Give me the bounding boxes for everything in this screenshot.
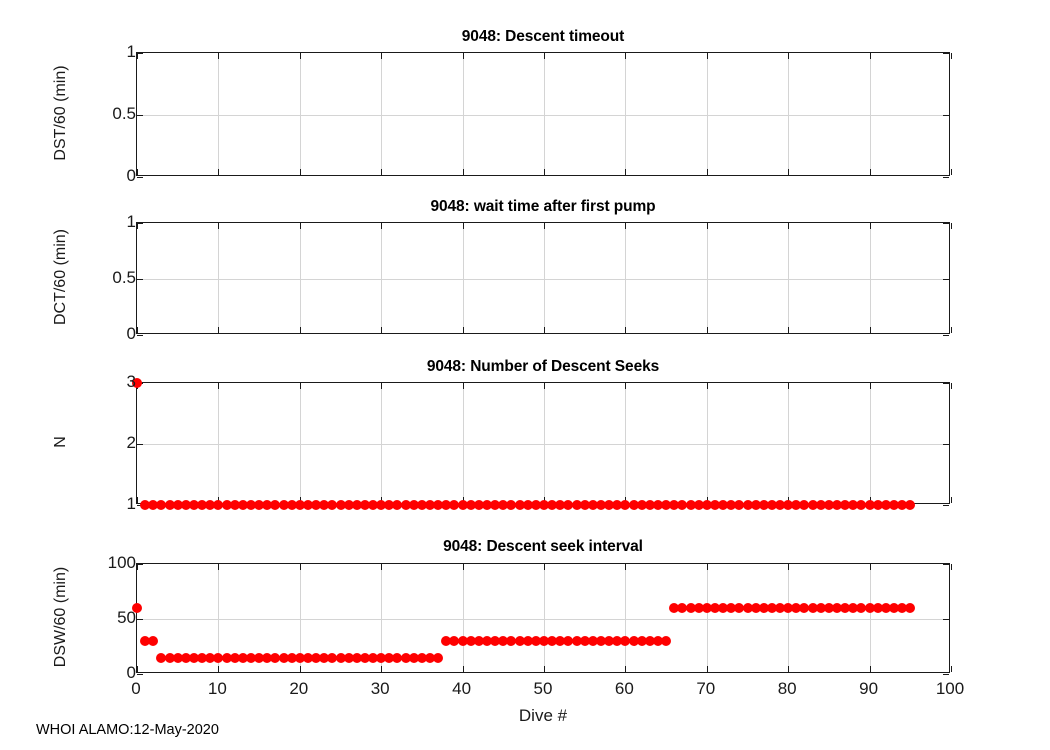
x-tick-mark (381, 383, 382, 389)
x-tick-mark (625, 327, 626, 333)
y-tick-mark (943, 619, 949, 620)
x-gridline (707, 53, 708, 175)
x-tick-mark (463, 564, 464, 570)
y-tick-mark (943, 383, 949, 384)
x-tick-mark (951, 169, 952, 175)
x-tick-mark (218, 564, 219, 570)
x-tick-label: 10 (208, 679, 227, 699)
x-tick-mark (381, 53, 382, 59)
x-gridline (300, 53, 301, 175)
x-gridline (870, 53, 871, 175)
x-tick-label: 40 (452, 679, 471, 699)
y-tick-mark (943, 335, 949, 336)
x-tick-mark (951, 497, 952, 503)
x-gridline (218, 223, 219, 333)
x-gridline (300, 223, 301, 333)
x-tick-mark (463, 169, 464, 175)
plot-area-2 (136, 222, 950, 334)
x-tick-mark (300, 223, 301, 229)
x-tick-mark (870, 53, 871, 59)
x-gridline (788, 53, 789, 175)
x-tick-mark (463, 666, 464, 672)
y-tick-label: 100 (0, 553, 143, 573)
x-tick-mark (951, 223, 952, 229)
x-gridline (870, 383, 871, 503)
x-tick-mark (788, 327, 789, 333)
y-tick-label: 0 (0, 663, 143, 683)
x-tick-mark (463, 327, 464, 333)
y-tick-mark (943, 115, 949, 116)
x-tick-mark (788, 666, 789, 672)
x-tick-mark (544, 327, 545, 333)
x-gridline (788, 223, 789, 333)
x-tick-label: 20 (289, 679, 308, 699)
x-tick-mark (218, 169, 219, 175)
x-tick-mark (300, 564, 301, 570)
x-gridline (625, 223, 626, 333)
x-tick-label: 70 (696, 679, 715, 699)
panel-title-1: 9048: Descent timeout (136, 28, 950, 46)
x-tick-mark (707, 169, 708, 175)
x-tick-mark (625, 223, 626, 229)
y-tick-label: 0 (0, 324, 143, 344)
x-tick-mark (870, 327, 871, 333)
x-gridline (218, 383, 219, 503)
x-tick-label: 80 (778, 679, 797, 699)
x-tick-mark (951, 53, 952, 59)
x-gridline (381, 383, 382, 503)
x-tick-mark (218, 223, 219, 229)
x-tick-mark (951, 327, 952, 333)
x-gridline (218, 53, 219, 175)
y-tick-label: 50 (0, 608, 143, 628)
x-tick-mark (300, 169, 301, 175)
y-tick-mark (943, 223, 949, 224)
y-tick-label: 1 (0, 494, 143, 514)
x-gridline (544, 223, 545, 333)
chart-panel-4 (136, 563, 950, 673)
x-gridline (463, 223, 464, 333)
x-tick-mark (951, 564, 952, 570)
y-tick-label: 3 (0, 372, 143, 392)
x-tick-label: 100 (936, 679, 964, 699)
x-gridline (870, 564, 871, 672)
x-tick-mark (300, 383, 301, 389)
chart-panel-3 (136, 382, 950, 504)
x-tick-mark (951, 383, 952, 389)
y-tick-mark (943, 674, 949, 675)
x-gridline (870, 223, 871, 333)
y-axis-label-4: DSW/60 (min) (52, 517, 70, 717)
x-tick-mark (381, 169, 382, 175)
x-gridline (381, 53, 382, 175)
x-tick-mark (381, 564, 382, 570)
x-tick-mark (951, 666, 952, 672)
x-tick-mark (218, 383, 219, 389)
y-tick-label: 1 (0, 212, 143, 232)
x-tick-mark (707, 327, 708, 333)
panel-title-2: 9048: wait time after first pump (136, 198, 950, 216)
panel-title-3: 9048: Number of Descent Seeks (136, 358, 950, 376)
chart-panel-1 (136, 52, 950, 176)
x-gridline (707, 383, 708, 503)
x-tick-label: 50 (534, 679, 553, 699)
matlab-figure: WHOI ALAMO:12-May-2020 9048: Descent tim… (0, 0, 1050, 750)
y-gridline (137, 619, 949, 620)
x-tick-mark (463, 383, 464, 389)
data-point (433, 653, 443, 663)
x-tick-mark (625, 53, 626, 59)
x-gridline (544, 383, 545, 503)
y-tick-label: 1 (0, 42, 143, 62)
x-tick-mark (544, 53, 545, 59)
y-tick-mark (943, 53, 949, 54)
x-tick-mark (788, 169, 789, 175)
x-tick-mark (218, 666, 219, 672)
x-tick-mark (625, 564, 626, 570)
x-tick-mark (544, 564, 545, 570)
x-tick-mark (788, 383, 789, 389)
x-tick-mark (707, 666, 708, 672)
chart-panel-2 (136, 222, 950, 334)
y-tick-label: 0.5 (0, 104, 143, 124)
x-tick-mark (625, 666, 626, 672)
x-tick-mark (625, 169, 626, 175)
y-gridline (137, 444, 949, 445)
x-tick-mark (870, 383, 871, 389)
x-tick-mark (300, 666, 301, 672)
x-gridline (544, 53, 545, 175)
x-tick-mark (870, 666, 871, 672)
x-gridline (707, 564, 708, 672)
x-tick-mark (218, 327, 219, 333)
x-tick-mark (707, 383, 708, 389)
y-tick-mark (943, 444, 949, 445)
data-point (905, 500, 915, 510)
x-tick-mark (707, 223, 708, 229)
y-gridline (137, 279, 949, 280)
data-point (661, 636, 671, 646)
x-gridline (463, 53, 464, 175)
y-tick-label: 2 (0, 433, 143, 453)
x-tick-mark (870, 223, 871, 229)
x-tick-mark (625, 383, 626, 389)
x-gridline (788, 383, 789, 503)
x-gridline (707, 223, 708, 333)
x-gridline (544, 564, 545, 672)
y-tick-mark (943, 177, 949, 178)
x-tick-mark (463, 223, 464, 229)
y-tick-mark (943, 505, 949, 506)
panel-title-4: 9048: Descent seek interval (136, 538, 950, 556)
x-gridline (463, 564, 464, 672)
x-gridline (300, 383, 301, 503)
x-tick-mark (381, 223, 382, 229)
y-gridline (137, 115, 949, 116)
plot-area-4 (136, 563, 950, 673)
x-tick-mark (788, 564, 789, 570)
x-gridline (463, 383, 464, 503)
x-axis-label: Dive # (136, 706, 950, 726)
y-tick-mark (943, 279, 949, 280)
x-gridline (381, 223, 382, 333)
data-point (905, 603, 915, 613)
x-tick-mark (544, 666, 545, 672)
y-tick-label: 0 (0, 166, 143, 186)
x-tick-mark (463, 53, 464, 59)
x-gridline (625, 53, 626, 175)
x-gridline (788, 564, 789, 672)
x-tick-label: 90 (859, 679, 878, 699)
x-tick-mark (218, 53, 219, 59)
x-gridline (625, 564, 626, 672)
plot-area-1 (136, 52, 950, 176)
x-tick-mark (870, 564, 871, 570)
x-tick-mark (544, 383, 545, 389)
x-tick-mark (870, 169, 871, 175)
x-tick-mark (381, 327, 382, 333)
x-tick-mark (707, 564, 708, 570)
x-tick-mark (381, 666, 382, 672)
x-tick-label: 60 (615, 679, 634, 699)
x-tick-mark (788, 53, 789, 59)
data-point (148, 636, 158, 646)
y-tick-label: 0.5 (0, 268, 143, 288)
x-tick-mark (788, 223, 789, 229)
x-tick-mark (300, 53, 301, 59)
x-tick-mark (300, 327, 301, 333)
plot-area-3 (136, 382, 950, 504)
x-gridline (625, 383, 626, 503)
x-tick-mark (544, 223, 545, 229)
x-tick-mark (544, 169, 545, 175)
x-tick-label: 30 (371, 679, 390, 699)
y-tick-mark (943, 564, 949, 565)
x-tick-mark (707, 53, 708, 59)
